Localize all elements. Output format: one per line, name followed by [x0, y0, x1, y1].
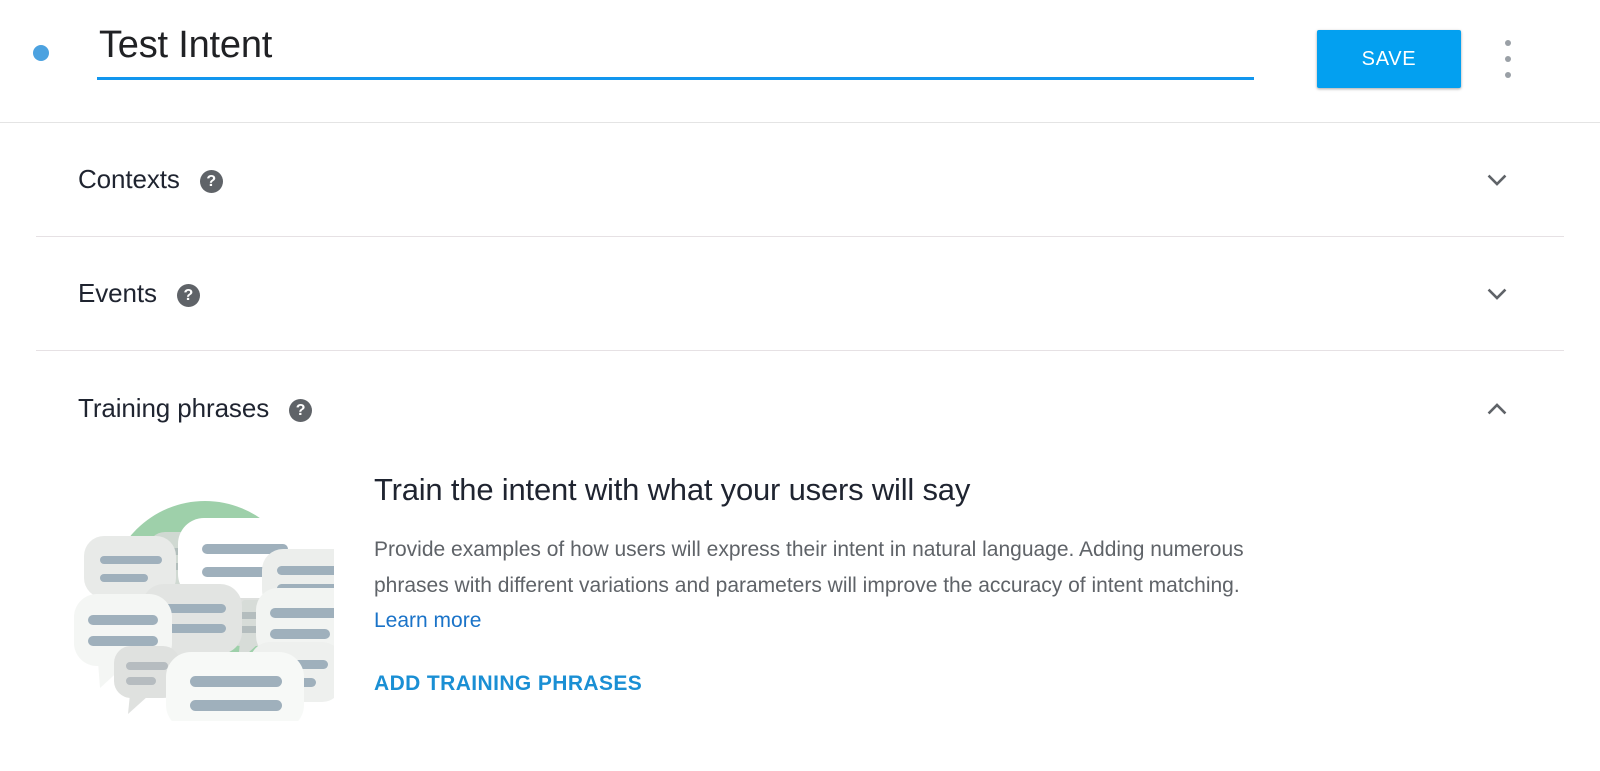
learn-more-link[interactable]: Learn more [374, 609, 481, 632]
help-icon-training-phrases[interactable]: ? [289, 399, 312, 422]
help-icon-events[interactable]: ? [177, 284, 200, 307]
intent-name-field-wrap [97, 24, 1254, 80]
empty-state-paragraph-text: Provide examples of how users will expre… [374, 538, 1244, 597]
section-events: Events ? [36, 237, 1564, 351]
section-header-training-phrases[interactable]: Training phrases ? [36, 351, 1564, 466]
more-options-icon[interactable] [1500, 40, 1516, 78]
chevron-up-icon-training-phrases[interactable] [1482, 394, 1512, 424]
empty-state-heading: Train the intent with what your users wi… [374, 472, 1264, 508]
help-icon-contexts[interactable]: ? [200, 170, 223, 193]
intent-name-input[interactable] [97, 24, 1254, 77]
section-header-events[interactable]: Events ? [36, 237, 1564, 350]
section-title-training-phrases: Training phrases [78, 393, 269, 424]
add-training-phrases-button[interactable]: ADD TRAINING PHRASES [374, 672, 642, 696]
kebab-dot-1 [1505, 40, 1511, 46]
chevron-down-icon-events[interactable] [1482, 279, 1512, 309]
empty-state-paragraph: Provide examples of how users will expre… [374, 532, 1264, 639]
section-title-contexts: Contexts [78, 164, 180, 195]
kebab-dot-3 [1505, 72, 1511, 78]
speech-bubbles-illustration [74, 476, 334, 721]
training-phrases-empty-state: Train the intent with what your users wi… [36, 466, 1564, 741]
training-phrases-copy: Train the intent with what your users wi… [374, 466, 1264, 721]
section-training-phrases: Training phrases ? [36, 351, 1564, 741]
intent-status-dot [33, 45, 49, 61]
intent-name-underline [97, 77, 1254, 80]
chevron-down-icon-contexts[interactable] [1482, 165, 1512, 195]
kebab-dot-2 [1505, 56, 1511, 62]
section-header-contexts[interactable]: Contexts ? [36, 123, 1564, 236]
save-button[interactable]: SAVE [1317, 30, 1461, 88]
section-contexts: Contexts ? [36, 123, 1564, 237]
page-header: SAVE [0, 0, 1600, 123]
section-title-events: Events [78, 278, 157, 309]
